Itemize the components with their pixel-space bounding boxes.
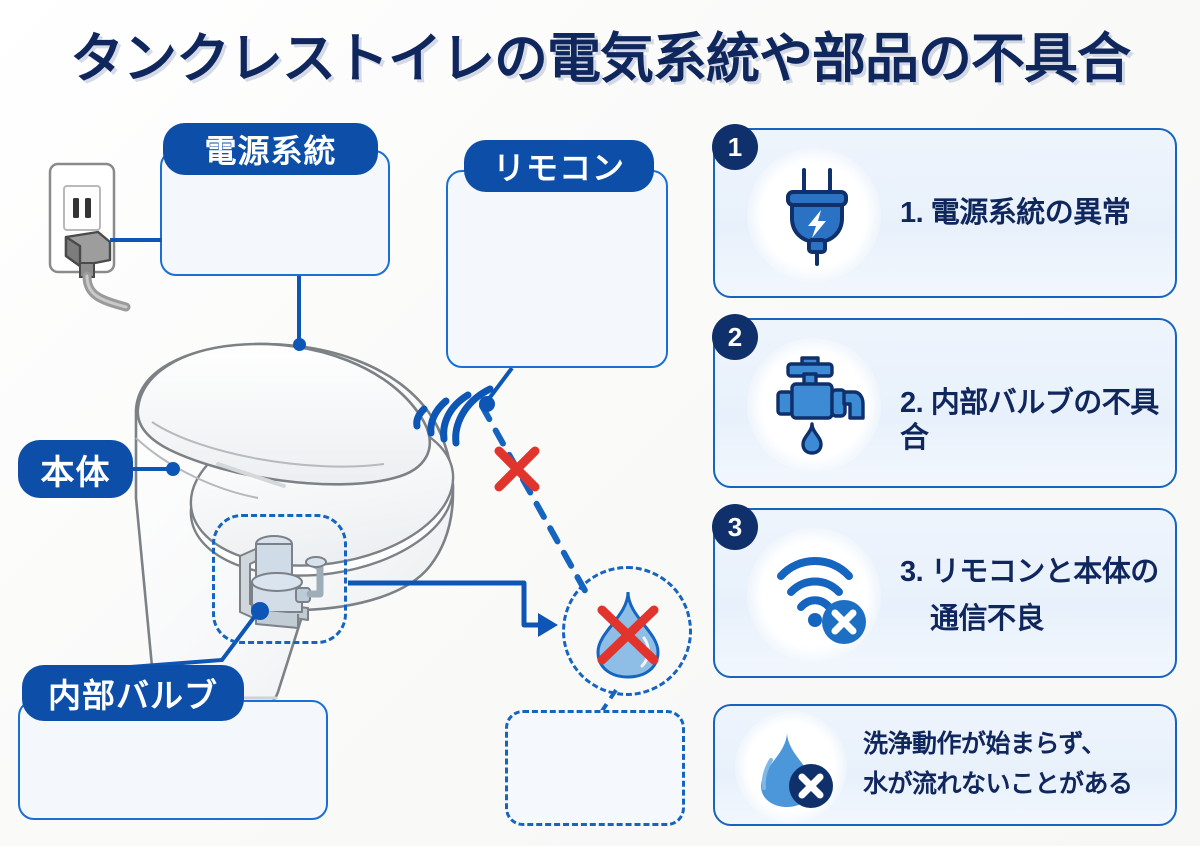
issue-card-2-text: 2. 内部バルブの不具合 <box>900 386 1175 457</box>
power-label-pill: 電源系統 <box>163 123 378 175</box>
issue-card-1-text: 1. 電源系統の異常 <box>900 196 1130 231</box>
connector-power-toilet <box>297 276 301 343</box>
body-label-pill: 本体 <box>18 440 133 498</box>
water-drop-x-icon <box>755 730 837 810</box>
remote-label-text: リモコン <box>493 143 625 189</box>
issue-card-3-text-line1: 3. リモコンと本体の <box>900 555 1159 590</box>
issue-card-3-text-line2: 通信不良 <box>930 602 1044 637</box>
infographic-canvas: タンクレストイレの電気系統や部品の不具合 <box>0 0 1200 846</box>
issue-card-2-badge: 2 <box>712 314 758 360</box>
connector-to-no-water <box>346 575 566 650</box>
internal-valve-dashed-zone <box>212 514 347 644</box>
wifi-disconnected-icon <box>773 550 869 646</box>
issue-card-3-badge: 3 <box>712 504 758 550</box>
connector-outlet-power <box>110 238 162 242</box>
remote-label-pill: リモコン <box>464 140 654 192</box>
power-label-text: 電源系統 <box>204 126 336 172</box>
no-water-dashed-circle <box>562 566 692 696</box>
issue-card-4-text-line2: 水が流れないことがある <box>863 768 1133 801</box>
page-title: タンクレストイレの電気系統や部品の不具合 <box>0 14 1200 93</box>
issue-card-4[interactable]: 洗浄動作が始まらず、 水が流れないことがある <box>713 704 1177 826</box>
connector-dot-toilet-top <box>293 338 306 351</box>
issue-card-2[interactable]: 2 2. 内部バルブの不具合 <box>713 318 1177 488</box>
issue-card-1[interactable]: 1 1. 電源系統の異常 <box>713 128 1177 298</box>
red-x-icon <box>489 441 545 497</box>
connector-remote-signal <box>478 366 518 414</box>
power-plug-icon <box>778 166 856 266</box>
faucet-icon <box>770 356 870 456</box>
wall-outlet-plug-icon <box>36 160 156 310</box>
connector-dot-body <box>166 462 180 476</box>
valve-label-pill: 内部バルブ <box>22 665 244 721</box>
issue-card-3[interactable]: 3 3. リモコンと本体の 通信不良 <box>713 508 1177 678</box>
issue-card-1-badge: 1 <box>712 124 758 170</box>
no-water-dashed-box <box>505 710 685 826</box>
valve-label-text: 内部バルブ <box>48 669 218 717</box>
body-label-text: 本体 <box>41 445 111 494</box>
issue-card-4-text-line1: 洗浄動作が始まらず、 <box>863 728 1106 761</box>
remote-callout-card <box>446 170 668 368</box>
